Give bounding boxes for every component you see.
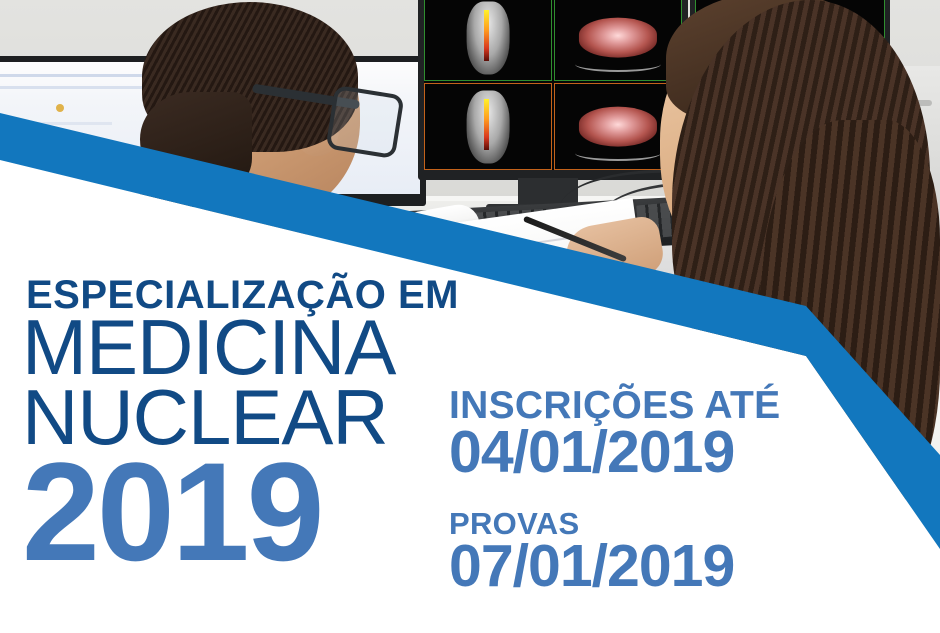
text-layer: ESPECIALIZAÇÃO EM MEDICINA NUCLEAR 2019 … [0,0,940,633]
promotional-banner: ESPECIALIZAÇÃO EM MEDICINA NUCLEAR 2019 … [0,0,940,633]
exam-date: 07/01/2019 [449,537,734,596]
headline-year: 2019 [22,442,321,582]
registration-date: 04/01/2019 [449,423,734,482]
